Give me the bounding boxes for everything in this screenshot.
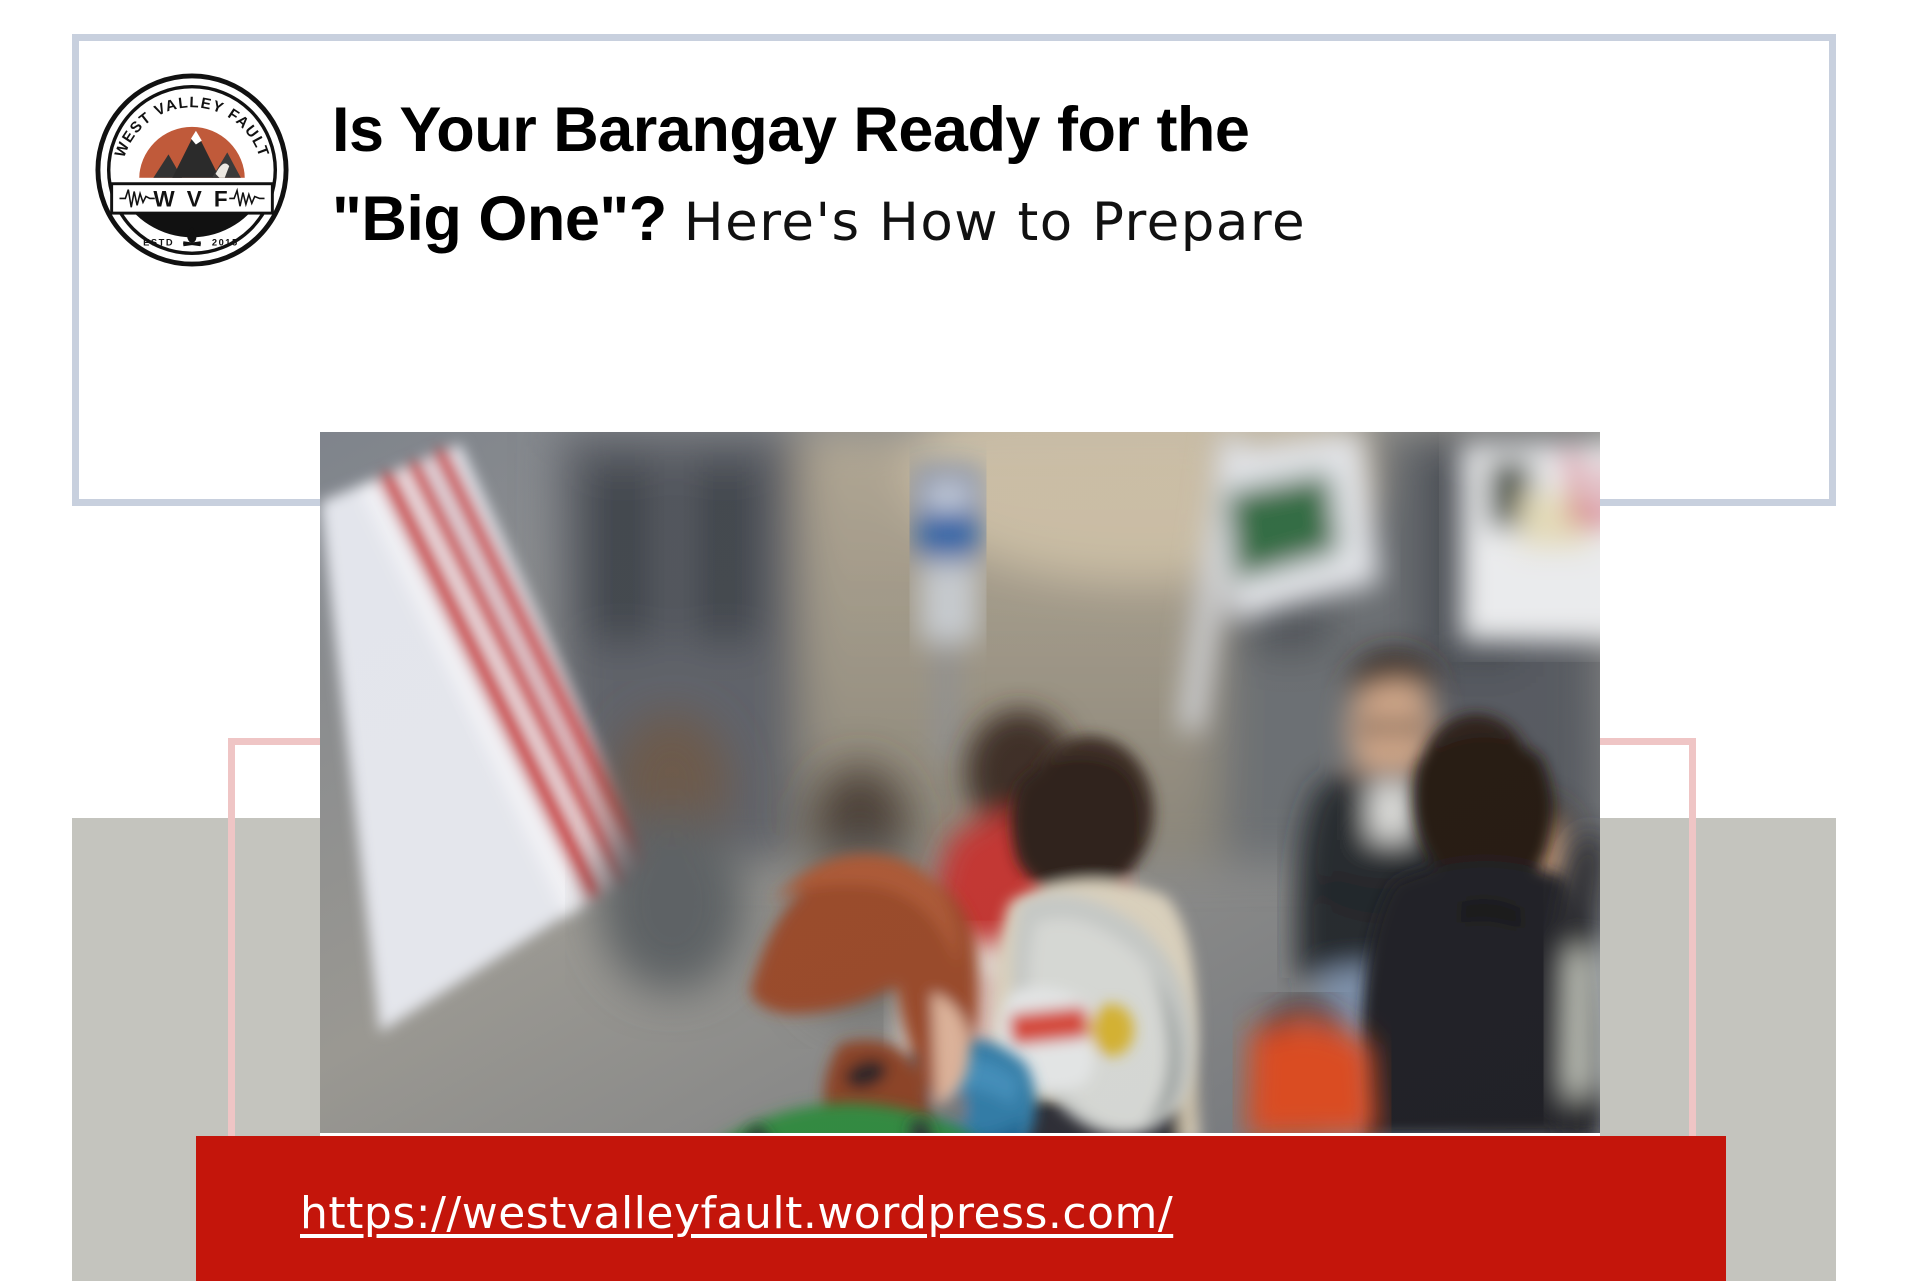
protest-crowd-photo-illustration [320,432,1600,1133]
headline-subtitle: Here's How to Prepare [684,192,1306,253]
logo-monogram: W V F [153,186,230,211]
logo-badge-icon: WEST VALLEY FAULT W V F ESTD 2015 [94,72,290,268]
hero-photo-frame [320,432,1600,1152]
headline-block: Is Your Barangay Ready for the "Big One"… [332,62,1306,265]
headline-line-2: "Big One"? Here's How to Prepare [332,175,1306,264]
logo-estd-label: ESTD [143,237,174,247]
header: WEST VALLEY FAULT W V F ESTD 2015 [72,34,1836,334]
website-url-link[interactable]: https://westvalleyfault.wordpress.com/ [300,1188,1173,1239]
poster-canvas: WEST VALLEY FAULT W V F ESTD 2015 [0,0,1920,1281]
logo-estd-year: 2015 [212,237,239,247]
hero-photo [320,432,1600,1133]
brand-logo: WEST VALLEY FAULT W V F ESTD 2015 [94,72,290,268]
headline-emphasis: "Big One"? [332,184,667,254]
headline-line-1: Is Your Barangay Ready for the [332,86,1306,175]
